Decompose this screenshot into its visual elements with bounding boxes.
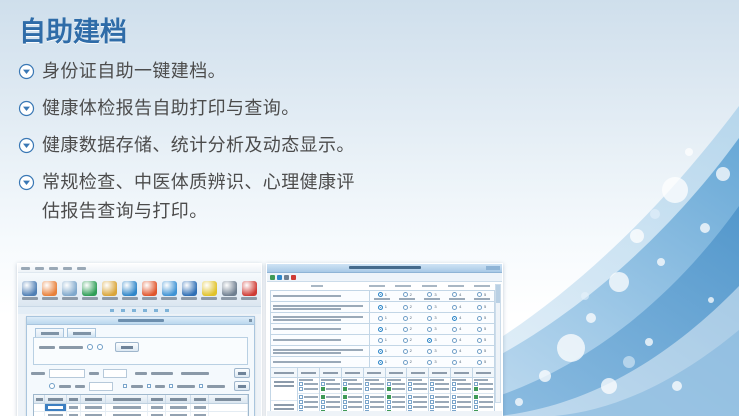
matrix-checkbox-row[interactable] — [474, 387, 493, 391]
matrix-checkbox-row[interactable] — [365, 400, 384, 404]
checkbox[interactable] — [474, 400, 478, 404]
matrix-checkbox-row[interactable] — [430, 395, 449, 399]
matrix-yesno-cell[interactable] — [320, 378, 341, 394]
radio-option-1[interactable]: 1 — [370, 360, 395, 365]
radio-option-3[interactable]: 3 — [420, 316, 445, 321]
save-icon[interactable] — [270, 275, 275, 280]
radio-option-5[interactable]: 5 — [469, 316, 494, 321]
radio-option-4[interactable]: 4 — [444, 349, 469, 354]
menu-item[interactable] — [49, 267, 58, 270]
checkbox[interactable] — [321, 387, 325, 391]
radio-option-3[interactable]: 3 — [420, 305, 445, 310]
radio-button[interactable] — [452, 292, 457, 297]
matrix-checkbox-row[interactable] — [299, 382, 318, 386]
unit-input[interactable] — [49, 369, 85, 378]
radio-option-1[interactable]: 1 — [370, 316, 395, 321]
checkbox[interactable] — [365, 382, 369, 386]
radio-button[interactable] — [378, 338, 383, 343]
radio-button[interactable] — [403, 292, 408, 297]
radio-option-3[interactable]: 3 — [420, 360, 445, 365]
matrix-checkbox-row[interactable] — [474, 382, 493, 386]
radio-button[interactable] — [403, 327, 408, 332]
screenshot-archive-system[interactable] — [17, 263, 262, 416]
matrix-checkbox-row[interactable] — [365, 387, 384, 391]
tab-dot[interactable] — [110, 309, 114, 312]
matrix-checkbox-row[interactable] — [430, 382, 449, 386]
matrix-yesno-cell[interactable] — [473, 378, 494, 394]
radio-option-3[interactable]: 3 — [420, 349, 445, 354]
grid-column-header[interactable] — [209, 395, 248, 403]
matrix-column-1[interactable] — [298, 368, 320, 411]
matrix-checkbox-row[interactable] — [343, 382, 362, 386]
checkbox[interactable] — [452, 387, 456, 391]
checkbox[interactable] — [299, 410, 303, 411]
answer-options[interactable]: 12345 — [370, 324, 494, 334]
checkbox[interactable] — [408, 400, 412, 404]
answer-options[interactable]: 12345 — [370, 291, 494, 301]
radio-button[interactable] — [452, 327, 457, 332]
checkbox[interactable] — [321, 405, 325, 409]
matrix-options-cell[interactable] — [320, 394, 341, 411]
print-button[interactable] — [234, 381, 250, 391]
checkbox[interactable] — [365, 400, 369, 404]
radio-option-4[interactable]: 4 — [444, 360, 469, 365]
checkbox[interactable] — [365, 405, 369, 409]
list-item-label: 健康体检报告自助打印与查询。 — [42, 94, 300, 123]
radio-option-label: 2 — [410, 293, 412, 297]
radio-option-5[interactable]: 5 — [469, 327, 494, 332]
matrix-checkbox-row[interactable] — [299, 395, 318, 399]
checkbox[interactable] — [299, 382, 303, 386]
radio-button[interactable] — [403, 305, 408, 310]
toolbar-button-label — [82, 297, 98, 300]
checkbox[interactable] — [321, 400, 325, 404]
tab-one[interactable] — [35, 328, 64, 337]
tab-dot[interactable] — [165, 309, 169, 312]
matrix-checkbox-row[interactable] — [299, 405, 318, 409]
matrix-checkbox-row[interactable] — [365, 405, 384, 409]
matrix-options-cell[interactable] — [386, 394, 407, 411]
matrix-checkbox-row[interactable] — [408, 382, 427, 386]
matrix-checkbox-row[interactable] — [343, 387, 362, 391]
tab-two[interactable] — [67, 328, 96, 337]
checkbox-option[interactable] — [147, 384, 151, 388]
radio-option-3[interactable]: 3 — [420, 338, 445, 343]
toolbar-button-8[interactable] — [159, 281, 179, 300]
matrix-options-cell[interactable] — [429, 394, 450, 411]
radio-button[interactable] — [378, 349, 383, 354]
checkbox[interactable] — [387, 395, 391, 399]
radio-option-1[interactable]: 1 — [370, 349, 395, 354]
patient-data-grid[interactable] — [33, 394, 249, 416]
matrix-checkbox-row[interactable] — [299, 410, 318, 411]
checkbox[interactable] — [321, 395, 325, 399]
radio-option-4[interactable]: 4 — [444, 327, 469, 332]
answer-options[interactable]: 12345 — [370, 335, 494, 345]
matrix-options-cell[interactable] — [342, 394, 363, 411]
radio-button[interactable] — [477, 327, 482, 332]
window-controls[interactable] — [486, 266, 500, 270]
matrix-checkbox-row[interactable] — [430, 410, 449, 411]
radio-button[interactable] — [378, 305, 383, 310]
radio-button[interactable] — [427, 316, 432, 321]
answer-options[interactable]: 12345 — [370, 346, 494, 356]
toolbar-button-4[interactable] — [80, 281, 100, 300]
radio-button[interactable] — [452, 360, 457, 365]
toolbar-button-7[interactable] — [140, 281, 160, 300]
matrix-checkbox-row[interactable] — [387, 410, 406, 411]
checkbox[interactable] — [452, 382, 456, 386]
tab-dot[interactable] — [132, 309, 136, 312]
checkbox[interactable] — [365, 387, 369, 391]
matrix-checkbox-row[interactable] — [343, 410, 362, 411]
matrix-checkbox-row[interactable] — [430, 405, 449, 409]
matrix-checkbox-row[interactable] — [408, 395, 427, 399]
radio-option-2[interactable]: 2 — [395, 338, 420, 343]
table-row[interactable] — [34, 412, 248, 416]
radio-button[interactable] — [378, 327, 383, 332]
radio-button[interactable] — [403, 338, 408, 343]
matrix-checkbox-row[interactable] — [387, 387, 406, 391]
toolbar-button-3[interactable] — [60, 281, 80, 300]
matrix-checkbox-row[interactable] — [365, 382, 384, 386]
radio-button[interactable] — [452, 338, 457, 343]
matrix-checkbox-row[interactable] — [387, 382, 406, 386]
checkbox[interactable] — [430, 395, 434, 399]
matrix-yesno-cell[interactable] — [451, 378, 472, 394]
matrix-checkbox-row[interactable] — [408, 387, 427, 391]
radio-button[interactable] — [427, 360, 432, 365]
matrix-checkbox-row[interactable] — [452, 405, 471, 409]
radio-option-4[interactable]: 4 — [444, 292, 469, 300]
checkbox[interactable] — [343, 405, 347, 409]
radio-option-4[interactable]: 4 — [444, 305, 469, 310]
checkbox[interactable] — [452, 410, 456, 411]
matrix-checkbox-row[interactable] — [430, 400, 449, 404]
matrix-options-cell[interactable] — [364, 394, 385, 411]
checkbox-label — [304, 406, 318, 408]
menu-item[interactable] — [63, 267, 72, 270]
vertical-scrollbar[interactable] — [495, 284, 501, 403]
grid-column-header[interactable] — [148, 395, 166, 403]
checkbox[interactable] — [343, 395, 347, 399]
checkbox[interactable] — [408, 382, 412, 386]
radio-option-2[interactable]: 2 — [395, 327, 420, 332]
radio-option[interactable] — [87, 344, 93, 350]
menu-item[interactable] — [21, 267, 30, 270]
matrix-checkbox-row[interactable] — [452, 395, 471, 399]
matrix-checkbox-row[interactable] — [365, 410, 384, 411]
checkbox[interactable] — [321, 382, 325, 386]
list-item: 身份证自助一键建档。 — [18, 57, 488, 86]
matrix-options-cell[interactable] — [473, 394, 494, 411]
table-cell — [34, 404, 45, 411]
checkbox[interactable] — [474, 387, 478, 391]
field-label — [135, 372, 147, 375]
checkbox[interactable] — [299, 400, 303, 404]
inner-tabstrip[interactable] — [27, 325, 254, 337]
table-cell — [34, 412, 45, 416]
checkbox[interactable] — [299, 395, 303, 399]
matrix-column-3[interactable] — [342, 368, 364, 411]
app-toolbar[interactable] — [18, 273, 261, 307]
table-row[interactable] — [34, 404, 248, 412]
checkbox[interactable] — [430, 405, 434, 409]
question-text — [271, 302, 370, 312]
radio-option-5[interactable]: 5 — [469, 349, 494, 354]
matrix-checkbox-row[interactable] — [474, 405, 493, 409]
grid-column-header[interactable] — [166, 395, 191, 403]
matrix-yesno-cell[interactable] — [342, 378, 363, 394]
radio-button[interactable] — [477, 360, 482, 365]
checkbox[interactable] — [474, 395, 478, 399]
checkbox[interactable] — [452, 400, 456, 404]
grid-column-header[interactable] — [67, 395, 82, 403]
radio-button[interactable] — [477, 349, 482, 354]
checkbox[interactable] — [343, 382, 347, 386]
checkbox[interactable] — [387, 400, 391, 404]
export-button[interactable] — [234, 368, 250, 378]
checkbox[interactable] — [387, 405, 391, 409]
grid-column-header[interactable] — [106, 395, 148, 403]
matrix-column-8[interactable] — [451, 368, 473, 411]
radio-option-2[interactable]: 2 — [395, 305, 420, 310]
checkbox[interactable] — [365, 395, 369, 399]
answer-options[interactable]: 12345 — [370, 313, 494, 323]
radio-option-3[interactable]: 3 — [420, 292, 445, 300]
checkbox-option[interactable] — [199, 384, 203, 388]
app-menu-bar[interactable] — [18, 264, 261, 273]
radio-button[interactable] — [427, 292, 432, 297]
radio-option-3[interactable]: 3 — [420, 327, 445, 332]
radio-button[interactable] — [477, 338, 482, 343]
matrix-checkbox-row[interactable] — [365, 395, 384, 399]
checkbox[interactable] — [430, 410, 434, 411]
matrix-options-cell[interactable] — [451, 394, 472, 411]
toolbar-button-label — [22, 297, 38, 300]
matrix-options-cell[interactable] — [407, 394, 428, 411]
matrix-checkbox-row[interactable] — [343, 395, 362, 399]
matrix-checkbox-row[interactable] — [474, 410, 493, 411]
radio-option-4[interactable]: 4 — [444, 316, 469, 321]
radio-option-1[interactable]: 1 — [370, 292, 395, 300]
close-icon[interactable] — [249, 319, 252, 322]
list-item-label: 身份证自助一键建档。 — [42, 57, 226, 86]
app-tab-dots[interactable] — [18, 307, 261, 314]
radio-option[interactable] — [49, 383, 55, 389]
matrix-checkbox-row[interactable] — [408, 405, 427, 409]
radio-button[interactable] — [477, 316, 482, 321]
checkbox-option[interactable] — [169, 384, 173, 388]
checkbox-option[interactable] — [123, 384, 127, 388]
radio-option-2[interactable]: 2 — [395, 316, 420, 321]
grid-column-header[interactable] — [81, 395, 106, 403]
date-from-input[interactable] — [103, 369, 127, 378]
radio-option-1[interactable]: 1 — [370, 327, 395, 332]
feature-list: 身份证自助一键建档。 健康体检报告自助打印与查询。 健康数据存储、统计分析及动态… — [18, 57, 488, 234]
radio-option-5[interactable]: 5 — [469, 360, 494, 365]
tab-dot[interactable] — [121, 309, 125, 312]
checkbox[interactable] — [430, 382, 434, 386]
radio-button[interactable] — [477, 305, 482, 310]
toolbar-button-2[interactable] — [40, 281, 60, 300]
matrix-yesno-cell[interactable] — [298, 378, 319, 394]
radio-button[interactable] — [378, 292, 383, 297]
radio-button[interactable] — [403, 360, 408, 365]
matrix-checkbox-row[interactable] — [321, 400, 340, 404]
matrix-column-5[interactable] — [386, 368, 408, 411]
matrix-checkbox-row[interactable] — [452, 387, 471, 391]
radio-button[interactable] — [452, 349, 457, 354]
table-cell — [166, 412, 191, 416]
matrix-checkbox-row[interactable] — [387, 405, 406, 409]
radio-button[interactable] — [378, 360, 383, 365]
checkbox[interactable] — [299, 387, 303, 391]
checkbox[interactable] — [408, 405, 412, 409]
answer-options[interactable]: 12345 — [370, 357, 494, 367]
matrix-yesno-cell[interactable] — [429, 378, 450, 394]
nav-pager[interactable] — [151, 372, 173, 375]
matrix-checkbox-row[interactable] — [387, 400, 406, 404]
menu-item[interactable] — [35, 267, 44, 270]
checkbox[interactable] — [387, 382, 391, 386]
radio-option-1[interactable]: 1 — [370, 305, 395, 310]
checkbox[interactable] — [430, 387, 434, 391]
checkbox[interactable] — [343, 410, 347, 411]
radio-option[interactable] — [97, 344, 103, 350]
matrix-checkbox-row[interactable] — [474, 400, 493, 404]
toolbar-button-12[interactable] — [239, 281, 259, 300]
checkbox[interactable] — [408, 387, 412, 391]
questionnaire-title — [349, 266, 421, 269]
toolbar-button-11[interactable] — [219, 281, 239, 300]
matrix-checkbox-row[interactable] — [299, 387, 318, 391]
radio-option-1[interactable]: 1 — [370, 338, 395, 343]
nav-pager[interactable] — [59, 346, 83, 349]
matrix-checkbox-row[interactable] — [321, 387, 340, 391]
matrix-yesno-cell[interactable] — [364, 378, 385, 394]
questionnaire-body[interactable]: 12345123451234512345123451234512345 — [267, 282, 502, 411]
field-label — [75, 385, 85, 388]
radio-button[interactable] — [427, 349, 432, 354]
toolbar-button-5[interactable] — [100, 281, 120, 300]
matrix-column-4[interactable] — [364, 368, 386, 411]
screenshot-tcm-questionnaire[interactable]: 12345123451234512345123451234512345 — [266, 263, 503, 416]
settings-icon[interactable] — [284, 275, 289, 280]
matrix-checkbox-row[interactable] — [343, 405, 362, 409]
checkbox[interactable] — [387, 387, 391, 391]
checkbox[interactable] — [452, 405, 456, 409]
radio-button[interactable] — [427, 327, 432, 332]
close-icon[interactable] — [291, 275, 296, 280]
checkbox[interactable] — [365, 410, 369, 411]
matrix-options-cell[interactable] — [298, 394, 319, 411]
answer-options[interactable]: 12345 — [370, 302, 494, 312]
radio-button[interactable] — [427, 305, 432, 310]
matrix-checkbox-row[interactable] — [321, 410, 340, 411]
matrix-checkbox-row[interactable] — [452, 410, 471, 411]
column-header — [469, 283, 495, 289]
grid-column-header[interactable] — [45, 395, 67, 403]
matrix-column-6[interactable] — [407, 368, 429, 411]
matrix-checkbox-row[interactable] — [452, 400, 471, 404]
radio-option-5[interactable]: 5 — [469, 338, 494, 343]
radio-button[interactable] — [452, 305, 457, 310]
radio-option-5[interactable]: 5 — [469, 305, 494, 310]
radio-option-2[interactable]: 2 — [395, 360, 420, 365]
toolbar-button-6[interactable] — [120, 281, 140, 300]
toolbar-button-10[interactable] — [199, 281, 219, 300]
questionnaire-toolbar[interactable] — [267, 273, 502, 282]
query-button[interactable] — [115, 342, 139, 352]
matrix-checkbox-row[interactable] — [408, 400, 427, 404]
checkbox[interactable] — [474, 410, 478, 411]
checkbox[interactable] — [321, 410, 325, 411]
radio-button[interactable] — [477, 292, 482, 297]
questionnaire-question-rows[interactable]: 12345123451234512345123451234512345 — [270, 290, 495, 368]
radio-button[interactable] — [403, 349, 408, 354]
radio-option-2[interactable]: 2 — [395, 349, 420, 354]
checkbox[interactable] — [408, 395, 412, 399]
matrix-yesno-cell[interactable] — [407, 378, 428, 394]
matrix-checkbox-row[interactable] — [387, 395, 406, 399]
tab-dot[interactable] — [154, 309, 158, 312]
matrix-checkbox-row[interactable] — [299, 400, 318, 404]
matrix-column-7[interactable] — [429, 368, 451, 411]
checkbox[interactable] — [474, 405, 478, 409]
toolbar-button-1[interactable] — [20, 281, 40, 300]
checkbox[interactable] — [299, 405, 303, 409]
matrix-column-2[interactable] — [320, 368, 342, 411]
radio-button[interactable] — [378, 316, 383, 321]
checkbox-label — [413, 388, 427, 390]
radio-button[interactable] — [427, 338, 432, 343]
print-icon[interactable] — [277, 275, 282, 280]
constitution-matrix[interactable] — [270, 368, 495, 411]
toolbar-button-9[interactable] — [179, 281, 199, 300]
tab-dot[interactable] — [143, 309, 147, 312]
matrix-yesno-cell[interactable] — [386, 378, 407, 394]
checkbox[interactable] — [343, 387, 347, 391]
radio-button[interactable] — [403, 316, 408, 321]
table-cell — [106, 404, 148, 411]
radio-button[interactable] — [452, 316, 457, 321]
grid-column-header[interactable] — [34, 395, 45, 403]
matrix-checkbox-row[interactable] — [408, 410, 427, 411]
radio-option-2[interactable]: 2 — [395, 292, 420, 300]
menu-item[interactable] — [77, 267, 86, 270]
matrix-checkbox-row[interactable] — [452, 382, 471, 386]
checkbox[interactable] — [474, 382, 478, 386]
matrix-checkbox-row[interactable] — [321, 382, 340, 386]
matrix-checkbox-row[interactable] — [430, 387, 449, 391]
checkbox[interactable] — [408, 410, 412, 411]
matrix-checkbox-row[interactable] — [321, 395, 340, 399]
checkbox[interactable] — [343, 400, 347, 404]
radio-option-4[interactable]: 4 — [444, 338, 469, 343]
matrix-checkbox-row[interactable] — [321, 405, 340, 409]
matrix-column-9[interactable] — [473, 368, 494, 411]
date-to-input[interactable] — [89, 382, 113, 391]
radio-option-5[interactable]: 5 — [469, 292, 494, 300]
checkbox[interactable] — [430, 400, 434, 404]
checkbox[interactable] — [452, 395, 456, 399]
matrix-checkbox-row[interactable] — [474, 395, 493, 399]
checkbox-label — [304, 383, 318, 385]
grid-column-header[interactable] — [191, 395, 209, 403]
checkbox[interactable] — [387, 410, 391, 411]
matrix-checkbox-row[interactable] — [343, 400, 362, 404]
